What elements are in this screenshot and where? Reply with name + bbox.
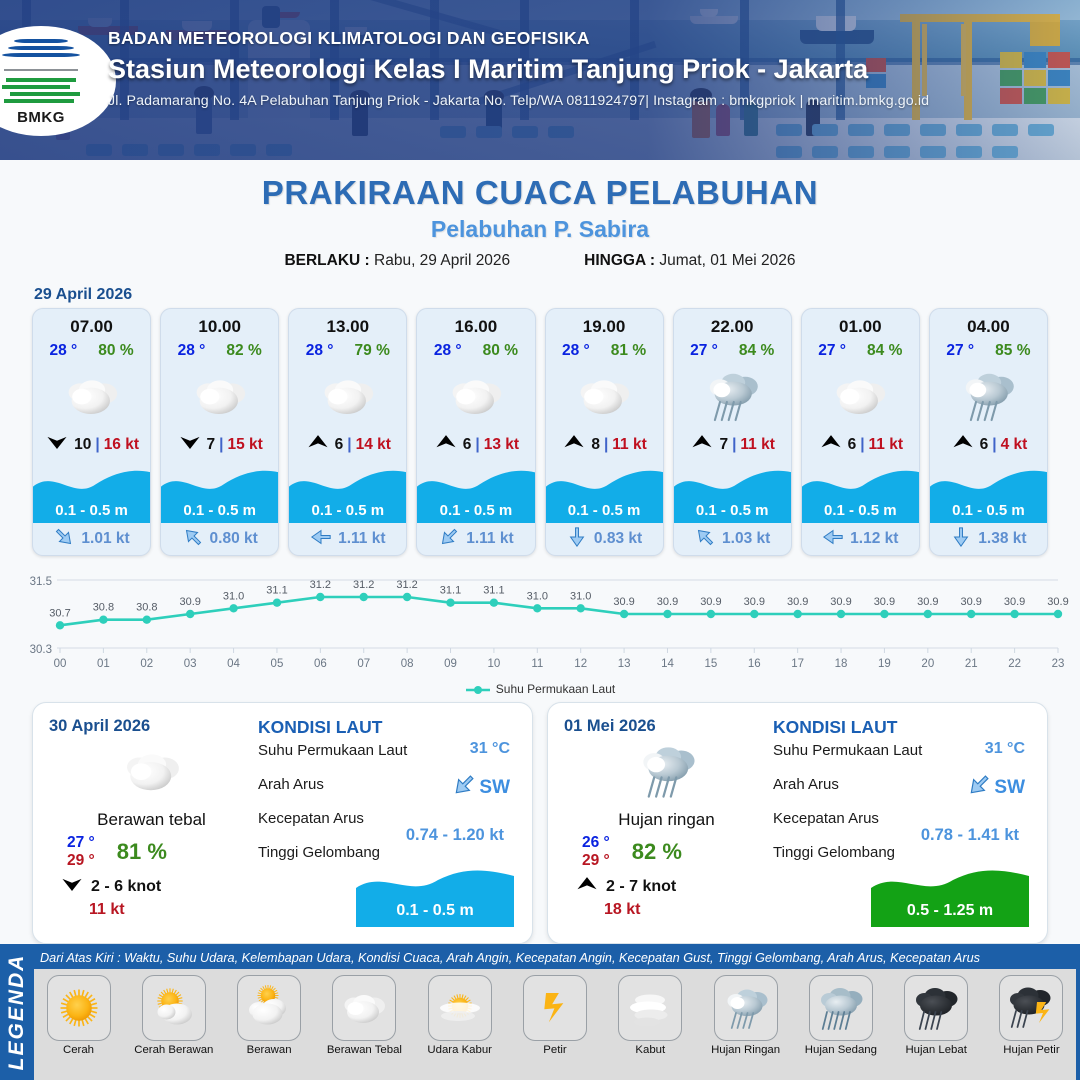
- svg-text:04: 04: [227, 658, 240, 670]
- current-direction-value: SW: [966, 772, 1025, 804]
- wave-height-label: Tinggi Gelombang: [258, 844, 380, 861]
- panel-humidity: 81 %: [117, 839, 167, 865]
- card-humidity: 82 %: [226, 342, 261, 360]
- wind-gust-separator: |: [732, 436, 736, 454]
- card-humidity: 80 %: [483, 342, 518, 360]
- current-direction-arrow-icon: [438, 526, 460, 553]
- wind-direction-arrow-icon: [689, 434, 715, 455]
- wind-direction-arrow-icon: [818, 434, 844, 455]
- legend-item: Hujan Ringan: [708, 975, 783, 1056]
- bmkg-logo-arc-icon: [2, 37, 80, 67]
- svg-text:30.9: 30.9: [1004, 596, 1025, 608]
- daily-forecast-panel: 01 Mei 2026 Hujan ringan 26 ° 29 °: [547, 702, 1048, 944]
- svg-text:31.5: 31.5: [30, 576, 52, 588]
- panel-humidity: 82 %: [632, 839, 682, 865]
- chart-legend-marker-icon: [465, 685, 491, 695]
- legend-item: Cerah Berawan: [136, 975, 211, 1056]
- weather-icon-cerah: [47, 975, 111, 1041]
- legend-item: Udara Kabur: [422, 975, 497, 1056]
- svg-text:30.7: 30.7: [49, 607, 70, 619]
- legend-item-label: Cerah Berawan: [134, 1044, 213, 1056]
- sst-value: 31 °C: [470, 740, 510, 758]
- legend-item-label: Hujan Lebat: [905, 1044, 966, 1056]
- sea-conditions-title: KONDISI LAUT: [773, 717, 1031, 738]
- panel-wind-direction-arrow-icon: [59, 876, 85, 897]
- svg-text:31.2: 31.2: [353, 579, 374, 591]
- legend-item-label: Hujan Sedang: [805, 1044, 877, 1056]
- wind-direction-arrow-icon: [950, 434, 976, 455]
- valid-to-label: HINGGA :: [584, 252, 655, 269]
- svg-text:00: 00: [54, 658, 67, 670]
- card-time: 10.00: [161, 317, 278, 337]
- card-time: 07.00: [33, 317, 150, 337]
- card-temperature: 28 °: [562, 342, 590, 360]
- current-speed: 0.83 kt: [594, 530, 642, 548]
- hourly-forecast-card: 07.00 28 ° 80 % 10 | 16 kt: [32, 308, 151, 556]
- sst-label: Suhu Permukaan Laut: [258, 742, 407, 759]
- wind-gust: 4 kt: [1001, 436, 1028, 454]
- current-direction-arrow-icon: [182, 526, 204, 553]
- bmkg-logo-text: BMKG: [17, 109, 65, 126]
- weather-icon-hujan-ringan: [930, 364, 1047, 428]
- panel-date: 30 April 2026: [49, 717, 254, 736]
- current-speed: 1.03 kt: [722, 530, 770, 548]
- svg-text:30.9: 30.9: [960, 596, 981, 608]
- wind-speed: 7: [719, 436, 728, 454]
- hourly-forecast-card: 04.00 27 ° 85 % 6 | 4 kt: [929, 308, 1048, 556]
- hourly-forecast-card: 16.00 28 ° 80 % 6 | 13 kt: [416, 308, 535, 556]
- svg-text:30.9: 30.9: [917, 596, 938, 608]
- wave-height-label: Tinggi Gelombang: [773, 844, 895, 861]
- panel-condition: Berawan tebal: [49, 810, 254, 830]
- svg-text:30.9: 30.9: [700, 596, 721, 608]
- current-direction-arrow-icon: [566, 526, 588, 553]
- weather-icon-berawan-tebal: [289, 364, 406, 428]
- legend-item-label: Hujan Petir: [1003, 1044, 1059, 1056]
- hourly-date-label: 29 April 2026: [34, 286, 1080, 304]
- wind-speed: 6: [463, 436, 472, 454]
- legend-item-label: Cerah: [63, 1044, 94, 1056]
- current-direction-label: Arah Arus: [773, 776, 839, 793]
- card-temperature: 28 °: [306, 342, 334, 360]
- wind-gust-separator: |: [604, 436, 608, 454]
- card-humidity: 81 %: [611, 342, 646, 360]
- panel-temp-min: 26 °: [582, 834, 610, 852]
- svg-text:12: 12: [574, 658, 587, 670]
- current-direction-arrow-icon: [451, 772, 477, 804]
- wave-height-block: 0.1 - 0.5 m: [289, 468, 406, 523]
- wind-gust: 11 kt: [740, 436, 774, 454]
- legend-item: Berawan Tebal: [327, 975, 402, 1056]
- current-direction-arrow-icon: [822, 526, 844, 553]
- panel-temp-min: 27 °: [67, 834, 95, 852]
- wind-speed: 6: [980, 436, 989, 454]
- valid-from-value: Rabu, 29 April 2026: [374, 252, 510, 269]
- weather-icon-berawan-tebal: [161, 364, 278, 428]
- current-direction-label: Arah Arus: [258, 776, 324, 793]
- weather-icon-cerah-berawan: [142, 975, 206, 1041]
- legend-side-label: LEGENDA: [0, 944, 34, 1080]
- weather-icon-hujan-ringan: [674, 364, 791, 428]
- weather-icon-udara-kabur: [428, 975, 492, 1041]
- svg-text:14: 14: [661, 658, 674, 670]
- legend-section: LEGENDA Dari Atas Kiri : Waktu, Suhu Uda…: [0, 944, 1080, 1080]
- hourly-forecast-card: 10.00 28 ° 82 % 7 | 15 kt: [160, 308, 279, 556]
- svg-text:31.1: 31.1: [266, 585, 287, 597]
- page-header: BMKG BADAN METEOROLOGI KLIMATOLOGI DAN G…: [0, 0, 1080, 160]
- sst-value: 31 °C: [985, 740, 1025, 758]
- wave-height-block: 0.1 - 0.5 m: [930, 468, 1047, 523]
- hourly-forecast-card: 19.00 28 ° 81 % 8 | 11 kt: [545, 308, 664, 556]
- current-direction-arrow-icon: [53, 526, 75, 553]
- svg-text:11: 11: [531, 658, 543, 670]
- card-humidity: 80 %: [98, 342, 133, 360]
- svg-text:30.9: 30.9: [744, 596, 765, 608]
- validity-period: BERLAKU : Rabu, 29 April 2026 HINGGA : J…: [0, 252, 1080, 270]
- wave-height-block: 0.1 - 0.5 m: [674, 468, 791, 523]
- sst-chart: 31.530.300010203040506070809101112131415…: [0, 566, 1080, 686]
- current-direction-arrow-icon: [966, 772, 992, 804]
- wind-direction-arrow-icon: [433, 434, 459, 455]
- svg-text:06: 06: [314, 658, 327, 670]
- weather-icon-hujan-ringan: [714, 975, 778, 1041]
- card-time: 22.00: [674, 317, 791, 337]
- wind-gust: 11 kt: [869, 436, 903, 454]
- station-name: Stasiun Meteorologi Kelas I Maritim Tanj…: [108, 54, 929, 85]
- legend-item: Cerah: [41, 975, 116, 1056]
- legend-items: Cerah Cerah Berawan: [34, 969, 1076, 1080]
- panel-wave-value: 0.5 - 1.25 m: [907, 902, 993, 920]
- svg-text:02: 02: [140, 658, 153, 670]
- wind-gust-separator: |: [860, 436, 864, 454]
- weather-icon-petir: [523, 975, 587, 1041]
- wave-height-value: 0.1 - 0.5 m: [183, 502, 256, 519]
- weather-icon-berawan-tebal: [33, 364, 150, 428]
- svg-text:31.0: 31.0: [570, 590, 591, 602]
- svg-text:17: 17: [791, 658, 804, 670]
- svg-text:05: 05: [271, 658, 284, 670]
- svg-text:01: 01: [97, 658, 110, 670]
- svg-text:30.9: 30.9: [657, 596, 678, 608]
- legend-item: Kabut: [613, 975, 688, 1056]
- legend-item-label: Udara Kabur: [427, 1044, 492, 1056]
- weather-icon-berawan-tebal: [49, 738, 254, 804]
- wind-gust-separator: |: [475, 436, 479, 454]
- wave-height-block: 0.1 - 0.5 m: [802, 468, 919, 523]
- wave-height-value: 0.1 - 0.5 m: [824, 502, 897, 519]
- hourly-forecast-card: 01.00 27 ° 84 % 6 | 11 kt: [801, 308, 920, 556]
- svg-text:31.1: 31.1: [440, 585, 461, 597]
- wind-speed: 7: [207, 436, 216, 454]
- wave-height-value: 0.1 - 0.5 m: [696, 502, 769, 519]
- wave-height-block: 0.1 - 0.5 m: [417, 468, 534, 523]
- svg-text:22: 22: [1008, 658, 1021, 670]
- svg-text:31.0: 31.0: [527, 590, 548, 602]
- card-temperature: 27 °: [818, 342, 846, 360]
- svg-text:13: 13: [618, 658, 631, 670]
- svg-text:30.8: 30.8: [136, 602, 157, 614]
- current-speed: 1.12 kt: [850, 530, 898, 548]
- weather-icon-berawan-tebal: [417, 364, 534, 428]
- current-direction-arrow-icon: [950, 526, 972, 553]
- svg-text:31.2: 31.2: [396, 579, 417, 591]
- weather-icon-berawan-tebal: [802, 364, 919, 428]
- sst-label: Suhu Permukaan Laut: [773, 742, 922, 759]
- card-time: 01.00: [802, 317, 919, 337]
- svg-text:30.9: 30.9: [179, 596, 200, 608]
- card-temperature: 28 °: [434, 342, 462, 360]
- hourly-forecast-card: 22.00 27 ° 84 % 7 | 11 kt: [673, 308, 792, 556]
- card-humidity: 79 %: [355, 342, 390, 360]
- current-speed: 1.38 kt: [978, 530, 1026, 548]
- wind-gust: 13 kt: [484, 436, 519, 454]
- wind-gust-separator: |: [219, 436, 223, 454]
- wave-height-value: 0.1 - 0.5 m: [952, 502, 1025, 519]
- wind-direction-arrow-icon: [177, 434, 203, 455]
- weather-icon-hujan-lebat: [904, 975, 968, 1041]
- current-speed: 1.11 kt: [466, 530, 513, 548]
- card-time: 19.00: [546, 317, 663, 337]
- svg-text:15: 15: [704, 658, 717, 670]
- legend-note: Dari Atas Kiri : Waktu, Suhu Udara, Kele…: [34, 944, 1076, 969]
- wind-gust: 16 kt: [104, 436, 139, 454]
- wind-gust: 15 kt: [228, 436, 263, 454]
- weather-icon-hujan-petir: [999, 975, 1063, 1041]
- current-direction-arrow-icon: [310, 526, 332, 553]
- panel-temp-max: 29 °: [582, 852, 610, 870]
- wind-speed: 8: [591, 436, 600, 454]
- legend-item-label: Kabut: [635, 1044, 665, 1056]
- panel-wind-gust: 11 kt: [49, 901, 254, 919]
- wind-direction-arrow-icon: [561, 434, 587, 455]
- weather-icon-berawan-tebal: [332, 975, 396, 1041]
- card-temperature: 28 °: [178, 342, 206, 360]
- card-time: 13.00: [289, 317, 406, 337]
- svg-text:30.3: 30.3: [30, 644, 52, 656]
- wind-direction-arrow-icon: [305, 434, 331, 455]
- panel-wave-block: 0.1 - 0.5 m: [356, 868, 514, 927]
- wind-gust-separator: |: [95, 436, 99, 454]
- card-humidity: 84 %: [867, 342, 902, 360]
- svg-text:30.9: 30.9: [830, 596, 851, 608]
- daily-forecast-panels: 30 April 2026 Berawan tebal 27 ° 29 °: [0, 696, 1080, 944]
- weather-icon-hujan-ringan: [564, 738, 769, 804]
- panel-wind-range: 2 - 7 knot: [606, 878, 676, 896]
- panel-date: 01 Mei 2026: [564, 717, 769, 736]
- legend-item: Hujan Petir: [994, 975, 1069, 1056]
- wind-gust: 14 kt: [356, 436, 391, 454]
- panel-wind-direction-arrow-icon: [574, 876, 600, 897]
- svg-text:30.9: 30.9: [1047, 596, 1068, 608]
- legend-item: Hujan Sedang: [803, 975, 878, 1056]
- svg-text:31.2: 31.2: [310, 579, 331, 591]
- current-speed-value: 0.74 - 1.20 kt: [406, 826, 504, 845]
- legend-item: Hujan Lebat: [899, 975, 974, 1056]
- bmkg-logo-base-icon: [2, 77, 80, 107]
- svg-text:30.9: 30.9: [787, 596, 808, 608]
- legend-item: Petir: [517, 975, 592, 1056]
- wave-height-value: 0.1 - 0.5 m: [55, 502, 128, 519]
- panel-wave-block: 0.5 - 1.25 m: [871, 868, 1029, 927]
- wind-gust: 11 kt: [612, 436, 646, 454]
- panel-wind-range: 2 - 6 knot: [91, 878, 161, 896]
- wave-height-value: 0.1 - 0.5 m: [568, 502, 641, 519]
- legend-item-label: Berawan Tebal: [327, 1044, 402, 1056]
- sst-chart-svg: 31.530.300010203040506070809101112131415…: [0, 566, 1080, 686]
- legend-item: Berawan: [232, 975, 307, 1056]
- svg-text:03: 03: [184, 658, 197, 670]
- wave-height-block: 0.1 - 0.5 m: [546, 468, 663, 523]
- page-subtitle: Pelabuhan P. Sabira: [0, 216, 1080, 243]
- legend-item-label: Petir: [543, 1044, 566, 1056]
- wind-speed: 6: [335, 436, 344, 454]
- valid-from-label: BERLAKU :: [284, 252, 369, 269]
- page-title: PRAKIRAAN CUACA PELABUHAN: [0, 174, 1080, 212]
- current-speed: 1.01 kt: [81, 530, 129, 548]
- panel-wind-gust: 18 kt: [564, 901, 769, 919]
- svg-text:09: 09: [444, 658, 457, 670]
- svg-text:30.8: 30.8: [93, 602, 114, 614]
- card-humidity: 85 %: [995, 342, 1030, 360]
- legend-item-label: Hujan Ringan: [711, 1044, 780, 1056]
- svg-text:10: 10: [488, 658, 501, 670]
- panel-condition: Hujan ringan: [564, 810, 769, 830]
- card-time: 04.00: [930, 317, 1047, 337]
- current-speed-label: Kecepatan Arus: [258, 810, 364, 827]
- svg-text:30.9: 30.9: [874, 596, 895, 608]
- svg-text:21: 21: [965, 658, 978, 670]
- panel-temp-max: 29 °: [67, 852, 95, 870]
- weather-icon-berawan-tebal: [546, 364, 663, 428]
- wave-height-block: 0.1 - 0.5 m: [33, 468, 150, 523]
- weather-icon-berawan: [237, 975, 301, 1041]
- card-temperature: 27 °: [690, 342, 718, 360]
- svg-text:19: 19: [878, 658, 891, 670]
- svg-text:31.1: 31.1: [483, 585, 504, 597]
- hourly-forecast-card: 13.00 28 ° 79 % 6 | 14 kt: [288, 308, 407, 556]
- panel-wave-value: 0.1 - 0.5 m: [396, 902, 473, 920]
- current-speed: 1.11 kt: [338, 530, 385, 548]
- svg-text:18: 18: [835, 658, 848, 670]
- svg-text:07: 07: [357, 658, 370, 670]
- svg-text:08: 08: [401, 658, 414, 670]
- current-direction-value: SW: [451, 772, 510, 804]
- wind-direction-arrow-icon: [44, 434, 70, 455]
- hourly-forecast-row: 07.00 28 ° 80 % 10 | 16 kt: [0, 308, 1080, 556]
- weather-icon-kabut: [618, 975, 682, 1041]
- valid-to-value: Jumat, 01 Mei 2026: [659, 252, 795, 269]
- svg-text:23: 23: [1052, 658, 1065, 670]
- wave-height-value: 0.1 - 0.5 m: [312, 502, 385, 519]
- sea-conditions-title: KONDISI LAUT: [258, 717, 516, 738]
- legend-item-label: Berawan: [247, 1044, 292, 1056]
- wind-speed: 10: [74, 436, 91, 454]
- current-direction-arrow-icon: [694, 526, 716, 553]
- card-temperature: 28 °: [50, 342, 78, 360]
- card-time: 16.00: [417, 317, 534, 337]
- weather-icon-hujan-sedang: [809, 975, 873, 1041]
- wind-gust-separator: |: [992, 436, 996, 454]
- svg-text:20: 20: [921, 658, 934, 670]
- current-speed-label: Kecepatan Arus: [773, 810, 879, 827]
- title-block: PRAKIRAAN CUACA PELABUHAN Pelabuhan P. S…: [0, 160, 1080, 270]
- wave-height-value: 0.1 - 0.5 m: [440, 502, 513, 519]
- wind-speed: 6: [848, 436, 857, 454]
- agency-name: BADAN METEOROLOGI KLIMATOLOGI DAN GEOFIS…: [108, 28, 929, 49]
- current-speed: 0.80 kt: [210, 530, 258, 548]
- svg-text:16: 16: [748, 658, 761, 670]
- station-address: Jl. Padamarang No. 4A Pelabuhan Tanjung …: [108, 93, 929, 109]
- svg-text:30.9: 30.9: [613, 596, 634, 608]
- daily-forecast-panel: 30 April 2026 Berawan tebal 27 ° 29 °: [32, 702, 533, 944]
- current-speed-value: 0.78 - 1.41 kt: [921, 826, 1019, 845]
- card-temperature: 27 °: [946, 342, 974, 360]
- svg-text:31.0: 31.0: [223, 590, 244, 602]
- wind-gust-separator: |: [347, 436, 351, 454]
- card-humidity: 84 %: [739, 342, 774, 360]
- wave-height-block: 0.1 - 0.5 m: [161, 468, 278, 523]
